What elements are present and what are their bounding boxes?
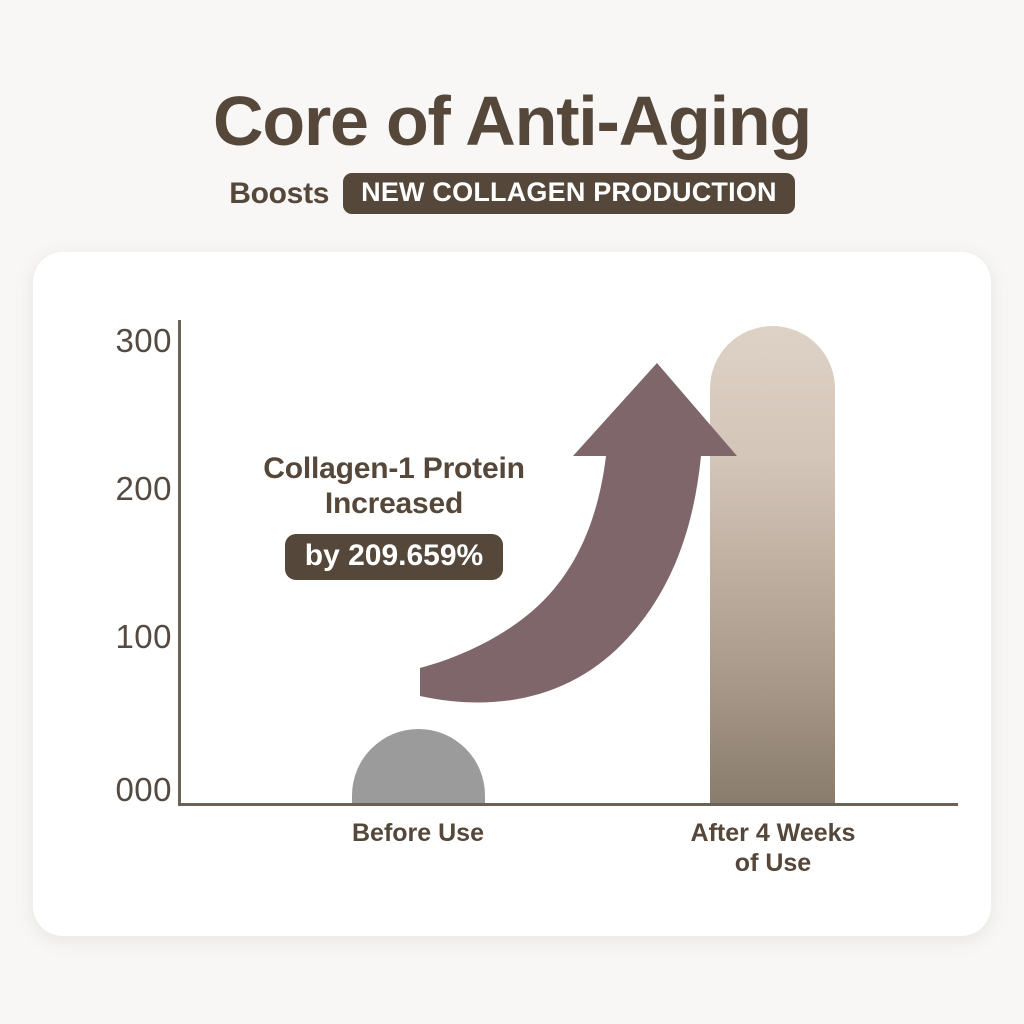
annotation-line-2: Increased bbox=[229, 487, 559, 522]
x-label-before-use: Before Use bbox=[327, 818, 509, 848]
bar-after-4-weeks bbox=[710, 326, 835, 803]
y-tick-000: 000 bbox=[80, 771, 172, 809]
chart-card: 300 200 100 000 Collagen-1 Protein Incre… bbox=[33, 252, 991, 936]
infographic-page: Core of Anti-Aging Boosts NEW COLLAGEN P… bbox=[0, 0, 1024, 1024]
y-axis-ticks: 300 200 100 000 bbox=[66, 252, 172, 936]
annotation-line-1: Collagen-1 Protein bbox=[229, 452, 559, 487]
bar-before-use bbox=[352, 729, 485, 803]
annotation-badge: by 209.659% bbox=[285, 534, 503, 580]
annotation-callout: Collagen-1 Protein Increased by 209.659% bbox=[229, 452, 559, 580]
subtitle-prefix: Boosts bbox=[229, 177, 329, 211]
y-tick-100: 100 bbox=[80, 618, 172, 656]
x-label-after-4-weeks: After 4 Weeksof Use bbox=[682, 818, 864, 878]
page-title: Core of Anti-Aging bbox=[0, 86, 1024, 156]
subtitle-badge: NEW COLLAGEN PRODUCTION bbox=[343, 173, 795, 214]
y-tick-300: 300 bbox=[80, 322, 172, 360]
y-tick-200: 200 bbox=[80, 470, 172, 508]
x-axis-line bbox=[178, 803, 958, 806]
y-axis-line bbox=[178, 320, 181, 806]
header: Core of Anti-Aging Boosts NEW COLLAGEN P… bbox=[0, 86, 1024, 214]
subtitle-row: Boosts NEW COLLAGEN PRODUCTION bbox=[0, 173, 1024, 214]
chart-plot-area: 300 200 100 000 Collagen-1 Protein Incre… bbox=[33, 252, 991, 936]
